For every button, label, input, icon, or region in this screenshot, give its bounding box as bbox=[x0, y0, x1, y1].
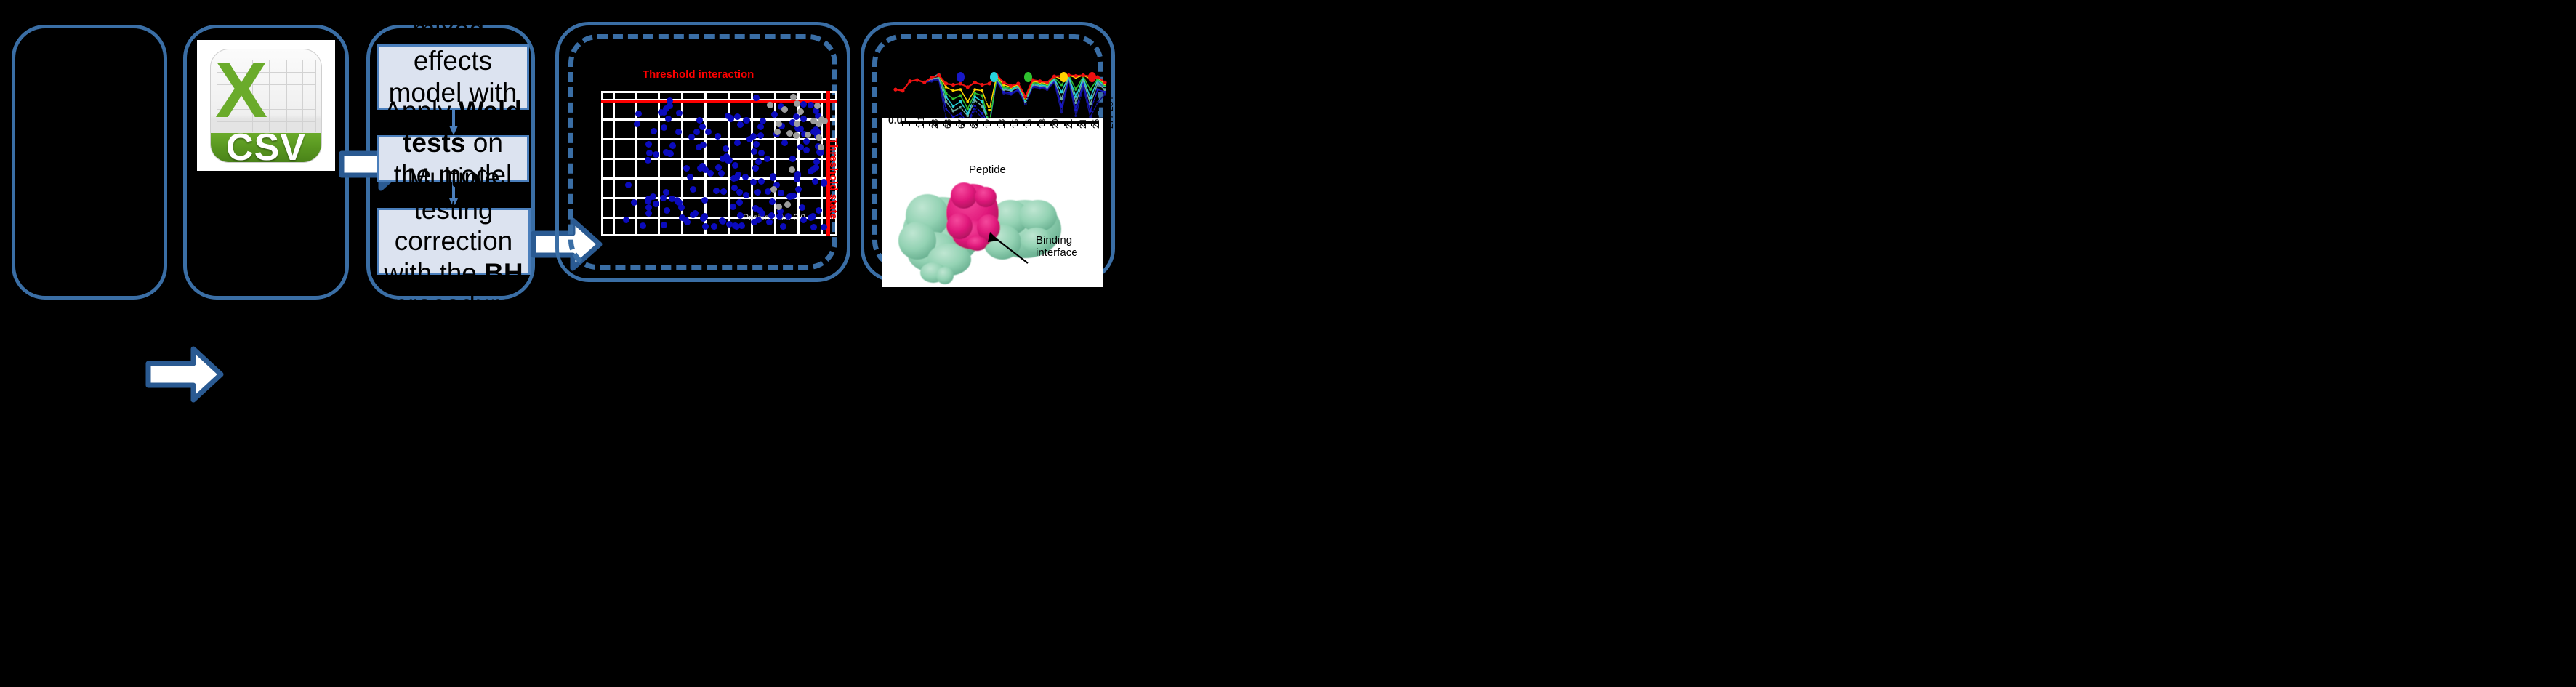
line-point bbox=[1089, 88, 1092, 91]
binding-interface-annotation: Binding interface bbox=[1036, 235, 1078, 260]
line-point bbox=[945, 100, 948, 103]
scatter-point bbox=[730, 204, 736, 210]
line-point bbox=[1060, 105, 1063, 108]
binding-annot-line2: interface bbox=[1036, 247, 1078, 260]
scatter-point bbox=[767, 102, 773, 108]
csv-card: X CSV bbox=[197, 40, 335, 171]
scatter-point bbox=[781, 140, 788, 146]
scatter-point bbox=[814, 103, 821, 109]
line-point bbox=[1103, 93, 1106, 96]
step-bh-box: Multiple testing correction with the BH … bbox=[377, 208, 531, 275]
scatter-point bbox=[810, 224, 817, 230]
scatter-point bbox=[799, 204, 805, 211]
scatter-point bbox=[743, 192, 749, 198]
scatter-point bbox=[675, 129, 682, 135]
scatter-point bbox=[769, 198, 776, 205]
scatter-point bbox=[737, 121, 744, 128]
line-point bbox=[1082, 73, 1085, 77]
protein-surface-render bbox=[882, 165, 1103, 287]
scatter-point bbox=[751, 219, 757, 225]
scatter-point bbox=[625, 182, 632, 188]
peptide-label: 241-257 bbox=[1078, 97, 1088, 129]
scatter-point bbox=[770, 174, 776, 181]
scatter-point bbox=[718, 170, 725, 177]
scatter-point bbox=[737, 212, 744, 219]
line-point bbox=[1045, 81, 1049, 84]
binding-annot-line1: Binding bbox=[1036, 235, 1078, 247]
scatter-point bbox=[693, 129, 700, 135]
line-point bbox=[959, 94, 962, 97]
scatter-point bbox=[696, 117, 703, 124]
line-point bbox=[951, 83, 955, 87]
scatter-point bbox=[766, 219, 773, 225]
scatter-point bbox=[667, 103, 673, 109]
line-point bbox=[893, 88, 897, 92]
scatter-point bbox=[723, 145, 729, 152]
scatter-point bbox=[726, 157, 733, 164]
line-point bbox=[908, 79, 911, 83]
step-reml-line1: Fit a linear mixed- bbox=[383, 0, 523, 45]
scatter-point bbox=[688, 134, 695, 140]
line-point bbox=[1074, 95, 1077, 98]
scatter-point bbox=[800, 217, 807, 223]
step-wald-line1: Apply Wald tests on bbox=[383, 95, 523, 158]
scatter-point bbox=[713, 188, 720, 194]
scatter-point bbox=[794, 176, 800, 182]
scatter-point bbox=[738, 222, 745, 229]
scatter-point bbox=[789, 166, 795, 173]
line-point bbox=[1074, 101, 1077, 104]
scatter-point bbox=[661, 124, 667, 131]
scatter-point bbox=[774, 129, 781, 135]
scatter-point bbox=[793, 132, 800, 139]
line-point bbox=[945, 92, 948, 95]
step-bh-line1: Multiple testing bbox=[383, 162, 524, 225]
line-point bbox=[966, 85, 970, 89]
scatter-point bbox=[645, 157, 651, 164]
scatter-point bbox=[658, 109, 664, 116]
arrow-input-to-data bbox=[145, 342, 225, 407]
scatter-point bbox=[667, 150, 674, 157]
scatter-point bbox=[735, 172, 741, 178]
scatter-point bbox=[690, 212, 696, 218]
scatter-point bbox=[669, 142, 676, 149]
scatter-point bbox=[768, 212, 775, 219]
scatter-point bbox=[800, 116, 807, 122]
scatter-point bbox=[731, 185, 738, 191]
scatter-point bbox=[736, 199, 743, 206]
scatter-point bbox=[734, 113, 741, 120]
peptide-label: 200-214 bbox=[1050, 97, 1060, 129]
scatter-point bbox=[653, 201, 659, 207]
scatter-point bbox=[778, 190, 784, 196]
line-point bbox=[1010, 92, 1013, 95]
scatter-point bbox=[640, 222, 646, 229]
scatter-point bbox=[757, 124, 764, 130]
scatter-point bbox=[699, 163, 706, 169]
scatter-point bbox=[754, 189, 761, 196]
scatter-point bbox=[742, 174, 749, 180]
scatter-point bbox=[800, 101, 807, 108]
scatter-point bbox=[676, 110, 683, 116]
scatter-point bbox=[651, 128, 657, 134]
line-point bbox=[1074, 108, 1077, 111]
scatter-point bbox=[789, 156, 796, 162]
step-bh-line2: correction bbox=[383, 225, 524, 257]
scatter-point bbox=[726, 221, 733, 228]
peptide-label: 28-44 bbox=[930, 106, 940, 129]
legend-dot-t1 bbox=[957, 72, 965, 82]
line-point bbox=[1060, 97, 1063, 100]
line-point bbox=[1074, 88, 1077, 91]
legend-dot-t3 bbox=[1024, 72, 1032, 82]
line-point bbox=[944, 81, 948, 85]
scatter-point bbox=[795, 186, 802, 193]
csv-letter-x: X bbox=[215, 51, 267, 129]
scatter-point bbox=[699, 124, 706, 130]
scatter-point bbox=[803, 147, 810, 153]
line-point bbox=[959, 81, 962, 85]
scatter-point bbox=[780, 223, 786, 230]
scatter-point bbox=[696, 144, 702, 150]
legend-dot-t4 bbox=[1060, 72, 1068, 82]
scatter-point bbox=[805, 132, 811, 138]
scatter-point bbox=[711, 223, 717, 230]
scatter-point bbox=[816, 134, 822, 141]
line-point bbox=[1103, 88, 1106, 91]
line-point bbox=[1009, 84, 1013, 88]
scatter-point bbox=[785, 213, 792, 220]
scatter-point bbox=[757, 132, 764, 139]
line-point bbox=[1016, 81, 1020, 85]
scatter-point bbox=[650, 193, 656, 200]
line-point bbox=[1060, 111, 1063, 113]
scatter-point bbox=[786, 130, 793, 137]
scatter-point bbox=[758, 178, 765, 185]
peptide-label: 258-266 bbox=[1091, 97, 1101, 129]
scatter-point bbox=[821, 224, 827, 230]
scatter-point bbox=[758, 150, 765, 156]
scatter-point bbox=[732, 162, 738, 169]
line-point bbox=[952, 89, 955, 92]
line-point bbox=[945, 95, 948, 98]
line-point bbox=[966, 100, 969, 103]
legend-dot-t5 bbox=[1088, 72, 1096, 82]
scatter-point bbox=[653, 151, 659, 158]
line-point bbox=[1095, 75, 1099, 79]
peptide-label: 277-284 bbox=[1105, 97, 1115, 129]
scatter-point bbox=[645, 210, 652, 217]
line-point bbox=[973, 88, 976, 91]
panel-input bbox=[12, 25, 167, 300]
scatter-points bbox=[601, 69, 837, 236]
line-point bbox=[1002, 81, 1005, 84]
scatter-point bbox=[720, 156, 726, 162]
scatter-point bbox=[751, 148, 757, 155]
line-point bbox=[1103, 81, 1106, 84]
scatter-point bbox=[808, 102, 814, 108]
peptide-label: 218-237 bbox=[1064, 97, 1074, 129]
scatter-point bbox=[683, 165, 690, 172]
scatter-point bbox=[660, 195, 667, 201]
line-point bbox=[1096, 88, 1099, 91]
csv-band: CSV bbox=[211, 133, 321, 162]
scatter-point bbox=[645, 204, 652, 211]
scatter-point bbox=[794, 121, 800, 127]
scatter-point bbox=[720, 188, 727, 195]
scatter-point bbox=[808, 168, 814, 174]
line-point bbox=[988, 81, 991, 85]
scatter-point bbox=[687, 174, 693, 180]
scatter-point bbox=[750, 133, 757, 140]
line-point bbox=[1060, 91, 1063, 94]
scatter-point bbox=[784, 201, 791, 208]
line-point bbox=[959, 100, 962, 103]
scatter-point bbox=[661, 222, 667, 228]
peptide-label: 184-199 bbox=[1037, 97, 1047, 129]
line-point bbox=[915, 78, 919, 81]
peptide-label: 63-73 bbox=[943, 106, 953, 129]
scatter-point bbox=[702, 223, 709, 230]
scatter-point bbox=[755, 158, 762, 165]
peptide-label: 158-166 bbox=[1010, 97, 1021, 129]
csv-label: CSV bbox=[226, 126, 306, 163]
scatter-point bbox=[664, 207, 670, 214]
peptide-label: 122-129 bbox=[983, 97, 994, 129]
scatter-point bbox=[635, 111, 642, 117]
scatter-point bbox=[781, 106, 788, 113]
line-point bbox=[981, 89, 983, 92]
scatter-point bbox=[808, 214, 814, 221]
scatter-point bbox=[707, 170, 714, 177]
scatter-point bbox=[818, 144, 824, 150]
line-point bbox=[945, 86, 948, 89]
line-point bbox=[981, 83, 984, 87]
line-point bbox=[1060, 84, 1063, 87]
scatter-point bbox=[770, 186, 777, 193]
line-point bbox=[937, 73, 941, 77]
scatter-point bbox=[803, 138, 810, 145]
line-point bbox=[1052, 75, 1056, 79]
line-point bbox=[1038, 79, 1042, 83]
scatter-point bbox=[631, 199, 637, 206]
scatter-point bbox=[700, 215, 707, 222]
line-point bbox=[1074, 74, 1078, 78]
scatter-point bbox=[797, 108, 804, 115]
peptide-label: 81-101 bbox=[970, 102, 980, 129]
line-point bbox=[1002, 86, 1005, 89]
scatter-point bbox=[690, 186, 696, 193]
scatter-point bbox=[701, 197, 708, 204]
scatter-point bbox=[752, 165, 759, 172]
line-point bbox=[901, 89, 904, 92]
scatter-point bbox=[816, 207, 822, 214]
csv-file-icon: X CSV bbox=[210, 49, 322, 163]
scatter-point bbox=[683, 217, 689, 223]
scatter-point bbox=[623, 217, 629, 223]
scatter-point bbox=[678, 204, 685, 211]
line-point bbox=[973, 81, 977, 84]
scatter-point bbox=[821, 179, 827, 185]
line-point bbox=[1074, 114, 1077, 117]
scatter-point bbox=[665, 116, 672, 122]
scatter-point bbox=[715, 133, 721, 140]
volcano-plot: Threshold interaction Position: 0.0 0.0 … bbox=[601, 69, 837, 236]
scatter-point bbox=[818, 116, 825, 123]
line-point bbox=[922, 81, 926, 84]
scatter-point bbox=[771, 111, 778, 118]
scatter-point bbox=[634, 121, 640, 127]
peptide-label: 1-15 bbox=[916, 111, 926, 129]
line-point bbox=[930, 76, 933, 79]
scatter-point bbox=[790, 94, 797, 100]
scatter-point bbox=[645, 141, 652, 148]
line-point bbox=[959, 88, 962, 91]
scatter-point bbox=[764, 156, 770, 162]
scatter-point bbox=[753, 95, 760, 101]
scatter-point bbox=[734, 140, 741, 146]
scatter-point bbox=[705, 129, 712, 135]
line-point bbox=[952, 97, 955, 100]
line-point bbox=[1103, 91, 1106, 94]
step-bh-line3: with the BH procedure bbox=[383, 257, 524, 321]
scatter-point bbox=[812, 178, 818, 185]
scatter-point bbox=[728, 115, 734, 121]
scatter-point bbox=[646, 150, 653, 156]
line-point bbox=[1002, 91, 1005, 94]
scatter-point bbox=[794, 100, 800, 107]
scatter-point bbox=[790, 193, 797, 199]
peptide-label: 67-75 bbox=[957, 106, 967, 129]
peptide-label: 167-180 bbox=[1023, 97, 1034, 129]
scatter-point bbox=[753, 141, 760, 148]
peptide-label: 135-144 bbox=[997, 97, 1007, 129]
scatter-point bbox=[750, 179, 757, 185]
legend-dot-t2 bbox=[990, 72, 998, 82]
